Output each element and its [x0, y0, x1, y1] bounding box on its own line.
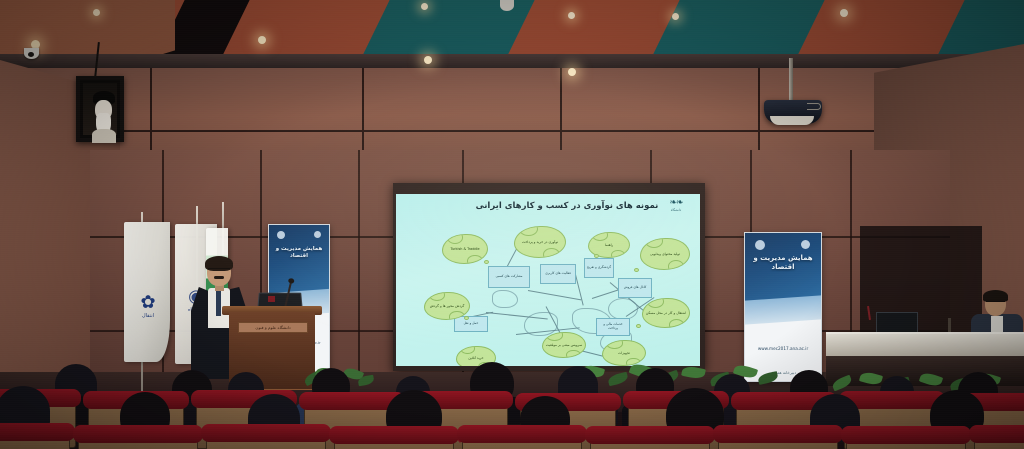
security-camera-icon — [24, 48, 39, 59]
ceiling-downlight — [421, 3, 428, 10]
theater-seat[interactable] — [462, 432, 582, 449]
slide-logo-caption: دانشگاه — [658, 208, 694, 212]
ceiling-downlight — [672, 13, 679, 20]
podium-plaque-text: دانشگاه علوم و فنون — [255, 325, 290, 330]
framed-portrait — [76, 76, 124, 142]
slide-cloud-node: اشتغال و کار در محل مسکن — [642, 298, 690, 328]
theater-seat[interactable] — [334, 433, 454, 449]
smoke-detector-icon — [500, 0, 514, 11]
theater-seat[interactable] — [206, 431, 326, 449]
audience-area: ♥ ♥ ♥ ♥ ♥ ♥ ♥ ♥ ♥ ♥ — [0, 352, 1024, 449]
ceiling-downlight — [568, 12, 575, 19]
projection-screen[interactable]: نمونه های نوآوری در کسب و کارهای ایرانی … — [396, 194, 700, 366]
slide-node-box: کانال های فروش — [618, 278, 652, 298]
slide-logo-mark: ❧❧ — [658, 198, 694, 208]
projector-body — [764, 100, 822, 124]
theater-seat[interactable] — [974, 432, 1024, 449]
ceiling-projector — [789, 58, 793, 104]
slide-node-box: مشارکت های کسبی — [488, 266, 530, 288]
institution-flag-1: ✿ انتقال — [124, 222, 170, 362]
slide-node-box: خدمات مالی و پرداخت — [596, 318, 630, 336]
ceiling-downlight — [840, 9, 848, 17]
ceiling-downlight — [93, 9, 100, 16]
slide-cloud-node: Turkish & Traddle — [442, 234, 488, 264]
theater-seat[interactable] — [846, 433, 966, 449]
slide-title: نمونه های نوآوری در کسب و کارهای ایرانی — [452, 201, 682, 211]
eyeglasses-icon — [208, 268, 230, 272]
banner-title: همایش مدیریت و اقتصاد — [745, 254, 821, 273]
panel-monitor[interactable] — [876, 312, 918, 334]
conference-hall-scene: نمونه های نوآوری در کسب و کارهای ایرانی … — [0, 0, 1024, 449]
slide-logo: ❧❧ دانشگاه — [658, 198, 694, 212]
podium-device-light — [268, 296, 275, 302]
banner-url: www.mec2017.ana.ac.ir — [745, 346, 821, 351]
flag-logo-glyph: ✿ — [132, 294, 164, 312]
flag-logo-label: انتقال — [132, 313, 164, 319]
slide-node-box: فعالیت های کاربری — [540, 264, 576, 284]
theater-seat[interactable] — [0, 430, 70, 449]
slide-node-box: گردشگری و تفریح — [584, 258, 614, 278]
slide-cloud-node: نوآوری در خرید و پرداخت — [514, 226, 566, 258]
theater-seat[interactable] — [718, 432, 838, 449]
podium-plaque: دانشگاه علوم و فنون — [238, 322, 308, 333]
slide-cloud-node: تولید محتوای ویدئویی — [640, 238, 690, 270]
slide-cloud-node: گردش محور ها و گردش — [424, 292, 470, 320]
theater-seat[interactable] — [78, 432, 198, 449]
banner-title: همایش مدیریت و اقتصاد — [269, 246, 329, 261]
theater-seat[interactable] — [590, 433, 710, 449]
ceiling-downlight — [568, 68, 576, 76]
ceiling-downlight — [424, 56, 432, 64]
ceiling-downlight — [258, 36, 266, 44]
eyeglasses-icon — [986, 301, 1005, 304]
